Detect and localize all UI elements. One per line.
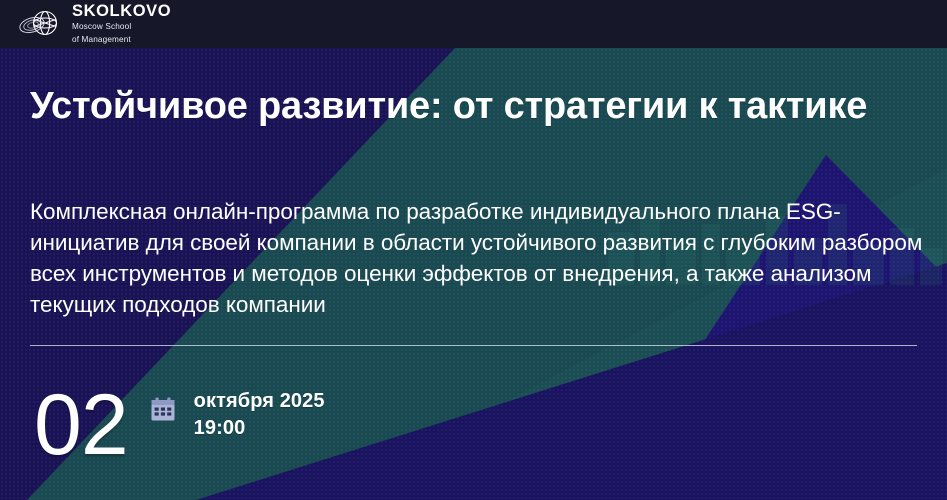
calendar-icon xyxy=(150,396,176,422)
divider xyxy=(30,345,917,346)
event-month-year: октября 2025 xyxy=(194,388,325,415)
hero-content: Устойчивое развитие: от стратегии к такт… xyxy=(0,48,947,500)
event-date-block: 02 октября 2025 19:00 xyxy=(30,388,325,464)
brand-subtitle-line-1: Moscow School xyxy=(72,22,171,33)
page-title: Устойчивое развитие: от стратегии к такт… xyxy=(30,84,910,130)
event-day: 02 xyxy=(34,388,128,464)
skolkovo-globe-icon xyxy=(17,6,63,42)
program-description: Комплексная онлайн-программа по разработ… xyxy=(30,196,925,320)
promo-banner: SKOLKOVO Moscow School of Management Уст… xyxy=(0,0,947,500)
header-bar: SKOLKOVO Moscow School of Management xyxy=(0,0,947,48)
brand-name: SKOLKOVO xyxy=(72,3,171,20)
event-time: 19:00 xyxy=(194,415,325,442)
event-when: октября 2025 19:00 xyxy=(194,388,325,441)
brand-subtitle-line-2: of Management xyxy=(72,35,171,46)
brand-logo[interactable]: SKOLKOVO Moscow School of Management xyxy=(17,3,171,46)
